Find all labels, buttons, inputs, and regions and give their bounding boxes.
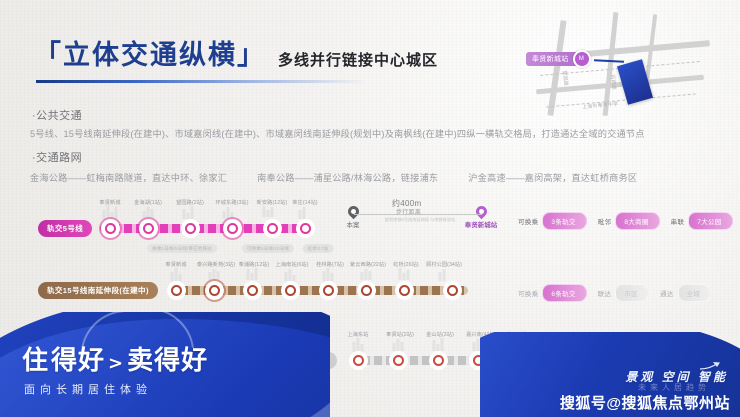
line-chip: 可换乘5号线/15号线 <box>242 244 294 253</box>
station-label: 莘庄(14站) <box>292 199 318 206</box>
line-chip: 虹桥/17站 <box>303 244 334 253</box>
brand-slogan-a: 住 <box>22 340 49 377</box>
station-building-icon <box>439 269 446 281</box>
station-label: 望园路(2站) <box>176 199 204 206</box>
station-label: 金海湖(1站) <box>134 199 162 206</box>
heading-underline <box>36 80 366 83</box>
walk-from-label: 本案 <box>347 219 360 229</box>
station-building-icon <box>103 205 118 219</box>
station-building-icon <box>247 268 258 280</box>
badge-value: 3条轨交 <box>542 212 586 230</box>
station-label: 上海南站(6站) <box>275 261 308 268</box>
station-building-icon <box>353 338 364 352</box>
station-label: 环城东路(3站) <box>215 199 248 206</box>
badge-value: 市区 <box>615 284 649 302</box>
badge-row-primary: 可换乘 3条轨交 毗邻 8大商圈 串联 7大公园 <box>518 212 733 230</box>
badge-item[interactable]: 联达 市区 <box>598 284 649 302</box>
badge-key: 可换乘 <box>518 216 542 226</box>
station-building-icon <box>399 268 410 280</box>
station-building-icon <box>433 338 444 351</box>
station-node[interactable] <box>223 219 242 238</box>
copy-section2-title: ·交通路网 <box>32 149 720 165</box>
station-node[interactable] <box>167 281 186 300</box>
brand-slogan-secondary: 面向长期居住体验 <box>24 381 152 397</box>
brand-block: 住 得好 > 卖得好 面向长期居住体验 <box>0 312 330 417</box>
badge-row-secondary: 可换乘 6条轨交 联达 市区 通达 全域 <box>518 284 711 302</box>
brand-slogan-c: 卖得好 <box>127 340 208 377</box>
watermark-account: 搜狐号@搜狐焦点鄂州站 <box>560 392 730 413</box>
station-node[interactable] <box>389 351 408 370</box>
badge-item[interactable]: 串联 7大公园 <box>671 212 733 230</box>
station-node[interactable] <box>205 281 224 300</box>
page-subtitle: 多线并行链接中心城区 <box>278 53 438 69</box>
station-building-icon <box>323 268 334 281</box>
badge-value: 6条轨交 <box>542 284 586 302</box>
station-node[interactable] <box>181 219 200 238</box>
badge-key: 可换乘 <box>518 288 542 298</box>
badge-item[interactable]: 通达 全域 <box>660 284 711 302</box>
station-node[interactable] <box>395 281 414 300</box>
station-building-icon <box>299 207 306 219</box>
copy-section1-title: ·公共交通 <box>32 107 720 123</box>
map-station-label-text: 奉贤新城站 <box>532 54 569 64</box>
station-label: 紫云西路(22站) <box>350 261 386 268</box>
copy-section1-text: 5号线、15号线南延伸段(在建中)、市域嘉闵线(在建中)、市域嘉闵线南延伸段(规… <box>30 128 720 142</box>
line-tag-15: 轨交15号线南延伸段(在建中) <box>38 282 158 299</box>
walk-distance-callout: 约400m 步行距离 规划地铁5号线南延伸段 与地铁接驳站 本案 奉贤新城站 <box>340 200 510 250</box>
copy-roads-row: 金海公路——虹梅南路隧道，直达中环、徐家汇 南奉公路——浦星公路/林海公路，链接… <box>30 170 720 184</box>
badge-item[interactable]: 毗邻 8大商圈 <box>598 212 660 230</box>
badge-value: 全域 <box>678 284 712 302</box>
station-node[interactable] <box>357 281 376 300</box>
station-node[interactable] <box>296 219 315 238</box>
map-street-label-1: 望园路 <box>561 70 570 86</box>
station-label: 奉浦路(12站) <box>239 261 270 268</box>
road-item-2: 南奉公路——浦星公路/林海公路，链接浦东 <box>257 170 438 184</box>
badge-key: 串联 <box>671 216 689 226</box>
station-building-icon <box>171 268 182 281</box>
arrow-icon <box>700 361 722 371</box>
station-building-icon <box>361 269 372 280</box>
station-building-icon <box>393 339 404 351</box>
station-building-icon <box>209 269 220 280</box>
road-item-3: 沪金高速——嘉闵高架，直达虹桥商务区 <box>468 170 637 184</box>
station-node[interactable] <box>243 281 262 300</box>
station-label: 金山站(3站) <box>426 331 454 338</box>
station-node[interactable] <box>349 351 368 370</box>
station-building-icon <box>263 206 274 217</box>
badge-item[interactable]: 可换乘 3条轨交 <box>518 212 587 230</box>
badge-value: 7大公园 <box>688 212 732 230</box>
map-station-label: 奉贤新城站 M <box>526 52 583 66</box>
station-node[interactable] <box>101 219 120 238</box>
station-building-icon <box>143 207 154 218</box>
line-tag-5: 轨交5号线 <box>38 220 92 237</box>
station-label: 顾村公园(34站) <box>426 261 462 268</box>
walk-distance-caption: 步行距离 <box>396 207 421 216</box>
badge-key: 联达 <box>598 288 616 298</box>
watermark-block: 未来人居趋势 景观 空间 智能 搜狐号@搜狐焦点鄂州站 <box>480 332 740 417</box>
road-item-1: 金海公路——虹梅南路隧道，直达中环、徐家汇 <box>30 170 227 184</box>
station-label: 虹桥(26站) <box>393 261 419 268</box>
station-label: 桂林路(7站) <box>316 261 344 268</box>
metro-pin-icon: M <box>573 50 591 68</box>
badge-key: 毗邻 <box>598 216 616 226</box>
station-node[interactable] <box>139 219 158 238</box>
slide-page: 「立体交通纵横」 多线并行链接中心城区 奉贤新城站 M 望园路 百顺路 上海市奉… <box>0 0 740 417</box>
walk-distance-note: 规划地铁5号线南延伸段 与地铁接驳站 <box>380 217 460 223</box>
brand-slogan-b: 得好 <box>51 340 105 377</box>
station-label: 奉贤站(2站) <box>386 331 414 338</box>
page-title: 「立体交通纵横」 <box>34 42 266 69</box>
station-building-icon <box>223 207 234 219</box>
station-building-icon <box>285 269 296 281</box>
station-label: 新安路(12站) <box>257 199 288 206</box>
page-heading: 「立体交通纵横」 多线并行链接中心城区 <box>34 42 438 69</box>
line-chip: 换乘1号线/5号线/莘庄地铁站 <box>147 244 217 253</box>
badge-value: 8大商圈 <box>615 212 659 230</box>
body-copy: ·公共交通 5号线、15号线南延伸段(在建中)、市域嘉闵线(在建中)、市域嘉闵线… <box>30 100 720 184</box>
station-node[interactable] <box>429 351 448 370</box>
station-node[interactable] <box>319 281 338 300</box>
station-node[interactable] <box>443 281 462 300</box>
station-label: 泰兴路新苑(3站) <box>197 261 235 268</box>
badge-item[interactable]: 可换乘 6条轨交 <box>518 284 587 302</box>
badge-key: 通达 <box>660 288 678 298</box>
station-label: 奉贤新城 <box>99 199 120 206</box>
station-node[interactable] <box>263 219 282 238</box>
map-street-label-2: 百顺路 <box>609 74 618 90</box>
station-label: 奉贤新城 <box>165 261 186 268</box>
station-label: 上海东站 <box>347 331 368 338</box>
station-building-icon <box>183 206 194 219</box>
walk-to-label: 奉贤新城站 <box>465 219 498 229</box>
brand-slogan-gt: > <box>107 353 125 374</box>
station-node[interactable] <box>281 281 300 300</box>
brand-slogan-primary: 住 得好 > 卖得好 <box>22 340 208 377</box>
